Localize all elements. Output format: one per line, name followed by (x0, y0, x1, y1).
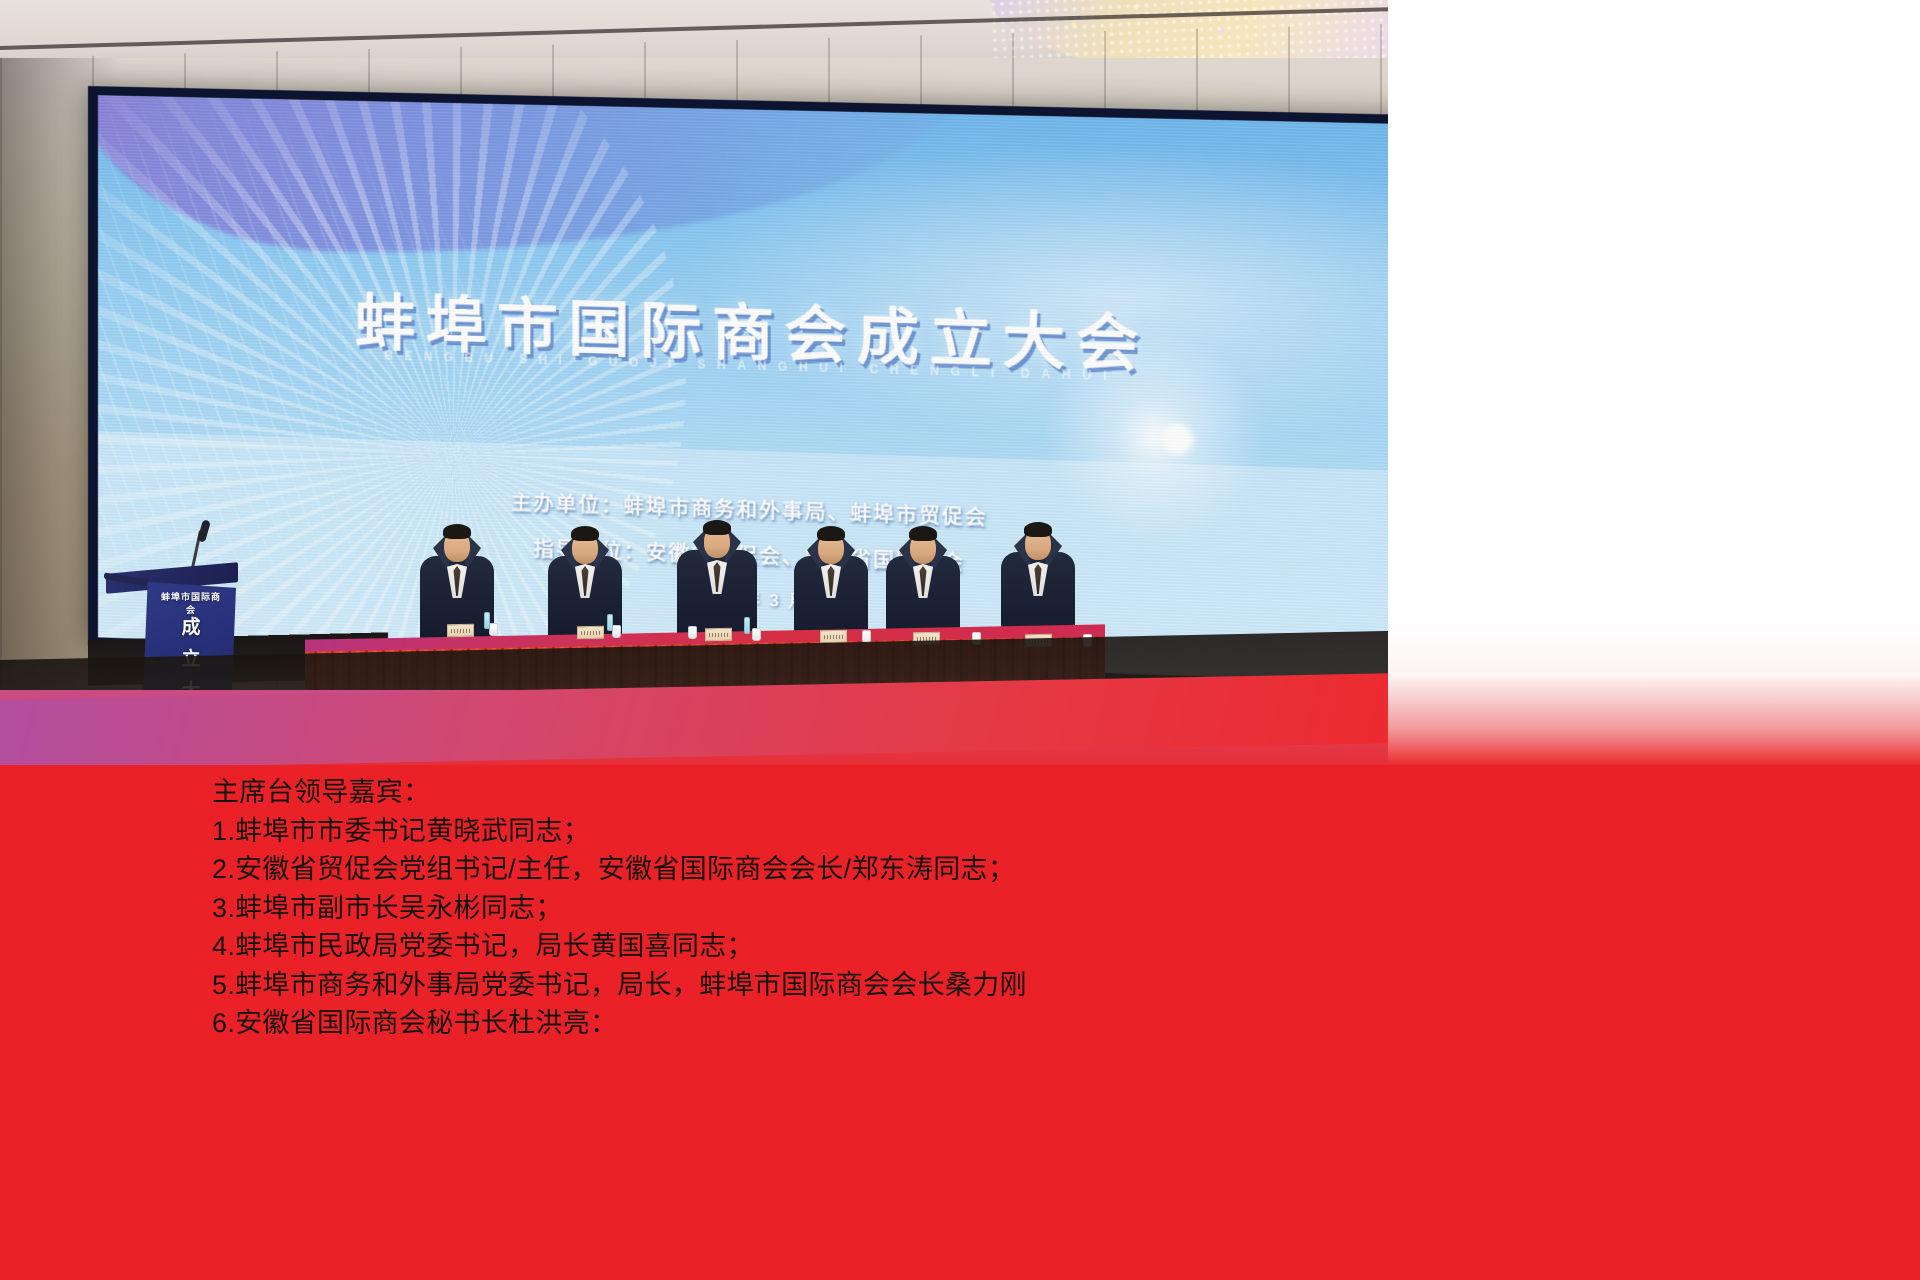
water-bottle (607, 614, 613, 631)
caption-band: 主席台领导嘉宾： 1.蚌埠市市委书记黄晓武同志； 2.安徽省贸促会党组书记/主任… (0, 765, 1920, 1280)
tea-cup (688, 626, 697, 639)
screen-flare-core (1162, 424, 1194, 456)
caption-line: 2.安徽省贸促会党组书记/主任，安徽省国际商会会长/郑东涛同志； (212, 850, 1812, 889)
caption-line: 4.蚌埠市民政局党委书记，局长黄国喜同志； (212, 927, 1812, 966)
seated-guest (886, 524, 960, 642)
caption-line: 5.蚌埠市商务和外事局党委书记，局长，蚌埠市国际商会会长桑力刚 (212, 966, 1812, 1005)
right-white-margin (1388, 0, 1920, 768)
screenshot-root: 蚌埠市国际商会成立大会 BENGBU SHI GUOJI SHANGHUI CH… (0, 0, 1920, 1280)
name-card (447, 624, 474, 637)
caption-line: 1.蚌埠市市委书记黄晓武同志； (212, 812, 1812, 851)
event-photograph: 蚌埠市国际商会成立大会 BENGBU SHI GUOJI SHANGHUI CH… (0, 0, 1390, 770)
tea-cup (612, 625, 621, 638)
caption-line: 主席台领导嘉宾： (212, 773, 1812, 812)
water-bottle (484, 612, 490, 629)
name-card (820, 630, 847, 643)
caption-line: 3.蚌埠市副市长吴永彬同志； (212, 889, 1812, 928)
name-card (705, 628, 732, 641)
seated-guest (794, 524, 868, 642)
seated-guest (1000, 520, 1076, 642)
caption-text-block: 主席台领导嘉宾： 1.蚌埠市市委书记黄晓武同志； 2.安徽省贸促会党组书记/主任… (212, 773, 1812, 1043)
caption-line: 6.安徽省国际商会秘书长杜洪亮： (212, 1004, 1812, 1043)
water-bottle (744, 617, 750, 634)
name-card (577, 626, 604, 639)
tea-cup (752, 628, 761, 641)
tea-cup (489, 623, 498, 636)
